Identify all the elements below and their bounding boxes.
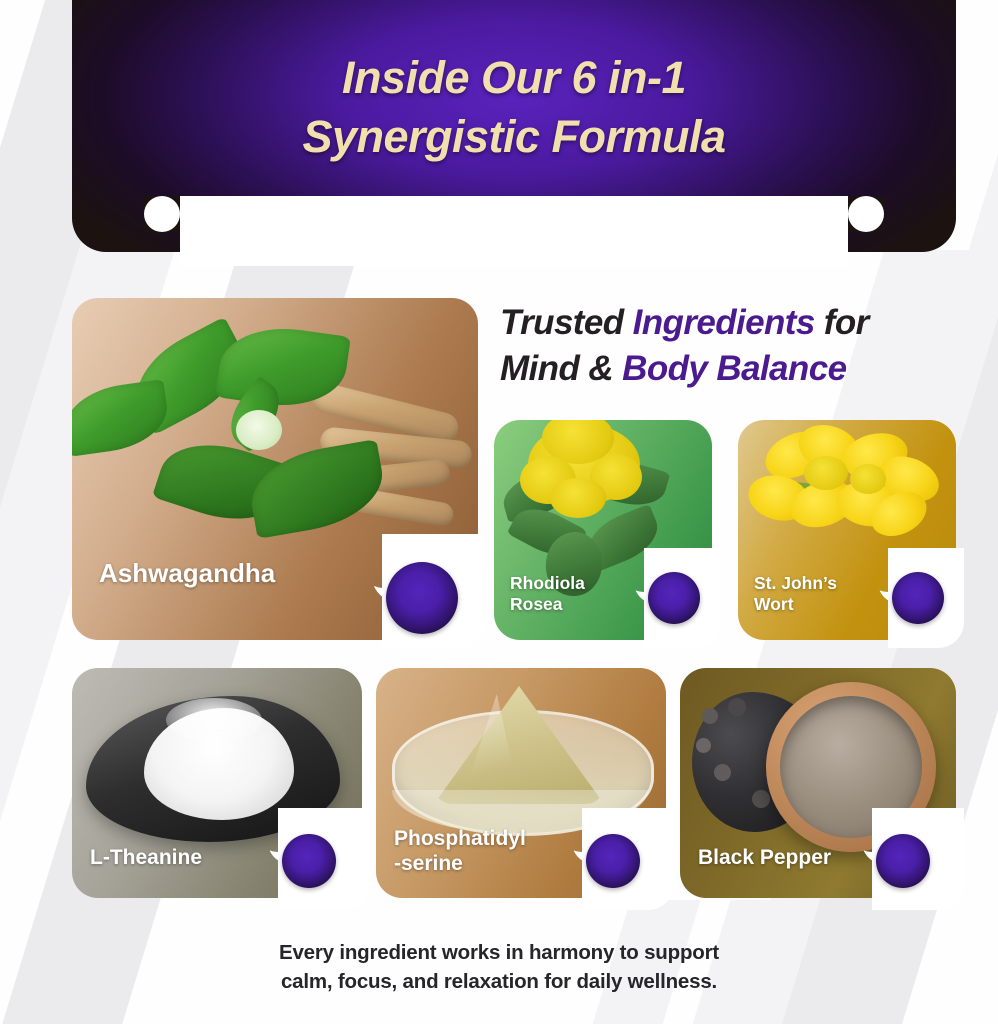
ingredient-card-phosphatidylserine[interactable]: Phosphatidyl -serine [376, 668, 666, 898]
header-notch-corner-left [144, 196, 180, 232]
card-label-rhodiola-rosea: Rhodiola Rosea [510, 573, 585, 614]
header-banner-notch [180, 196, 848, 266]
header-notch-corner-right [848, 196, 884, 232]
page-title-line2: Synergistic Formula [302, 111, 725, 162]
heading-text-2: for [815, 303, 869, 342]
card-label-st-johns-wort: St. John’s Wort [754, 573, 837, 614]
heading-accent-ingredients: Ingredients [633, 303, 815, 342]
page-title-line1: Inside Our 6 in-1 [342, 52, 686, 103]
section-heading: Trusted Ingredients for Mind & Body Bala… [500, 300, 980, 391]
heading-text-1: Trusted [500, 303, 633, 342]
card-dot-st-johns-wort[interactable] [892, 572, 944, 624]
card-label-l-theanine: L-Theanine [90, 846, 202, 870]
card-label-black-pepper: Black Pepper [698, 846, 831, 870]
card-dot-phosphatidylserine[interactable] [586, 834, 640, 888]
ingredient-card-rhodiola-rosea[interactable]: Rhodiola Rosea [494, 420, 712, 640]
card-dot-rhodiola-rosea[interactable] [648, 572, 700, 624]
footer-caption: Every ingredient works in harmony to sup… [0, 938, 998, 996]
footer-caption-line1: Every ingredient works in harmony to sup… [279, 941, 719, 964]
page-title: Inside Our 6 in-1 Synergistic Formula [72, 48, 956, 167]
ingredient-card-black-pepper[interactable]: Black Pepper [680, 668, 956, 898]
ingredient-card-ashwagandha[interactable]: Ashwagandha [72, 298, 478, 640]
header-banner: Inside Our 6 in-1 Synergistic Formula [72, 0, 956, 252]
footer-caption-line2: calm, focus, and relaxation for daily we… [281, 970, 717, 993]
card-label-phosphatidylserine: Phosphatidyl -serine [394, 827, 526, 876]
ingredient-card-st-johns-wort[interactable]: St. John’s Wort [738, 420, 956, 640]
card-label-ashwagandha: Ashwagandha [99, 558, 275, 588]
heading-accent-body-balance: Body Balance [622, 349, 846, 388]
card-dot-ashwagandha[interactable] [386, 562, 458, 634]
card-dot-l-theanine[interactable] [282, 834, 336, 888]
card-dot-black-pepper[interactable] [876, 834, 930, 888]
ingredient-card-l-theanine[interactable]: L-Theanine [72, 668, 362, 898]
heading-text-3: Mind & [500, 349, 622, 388]
